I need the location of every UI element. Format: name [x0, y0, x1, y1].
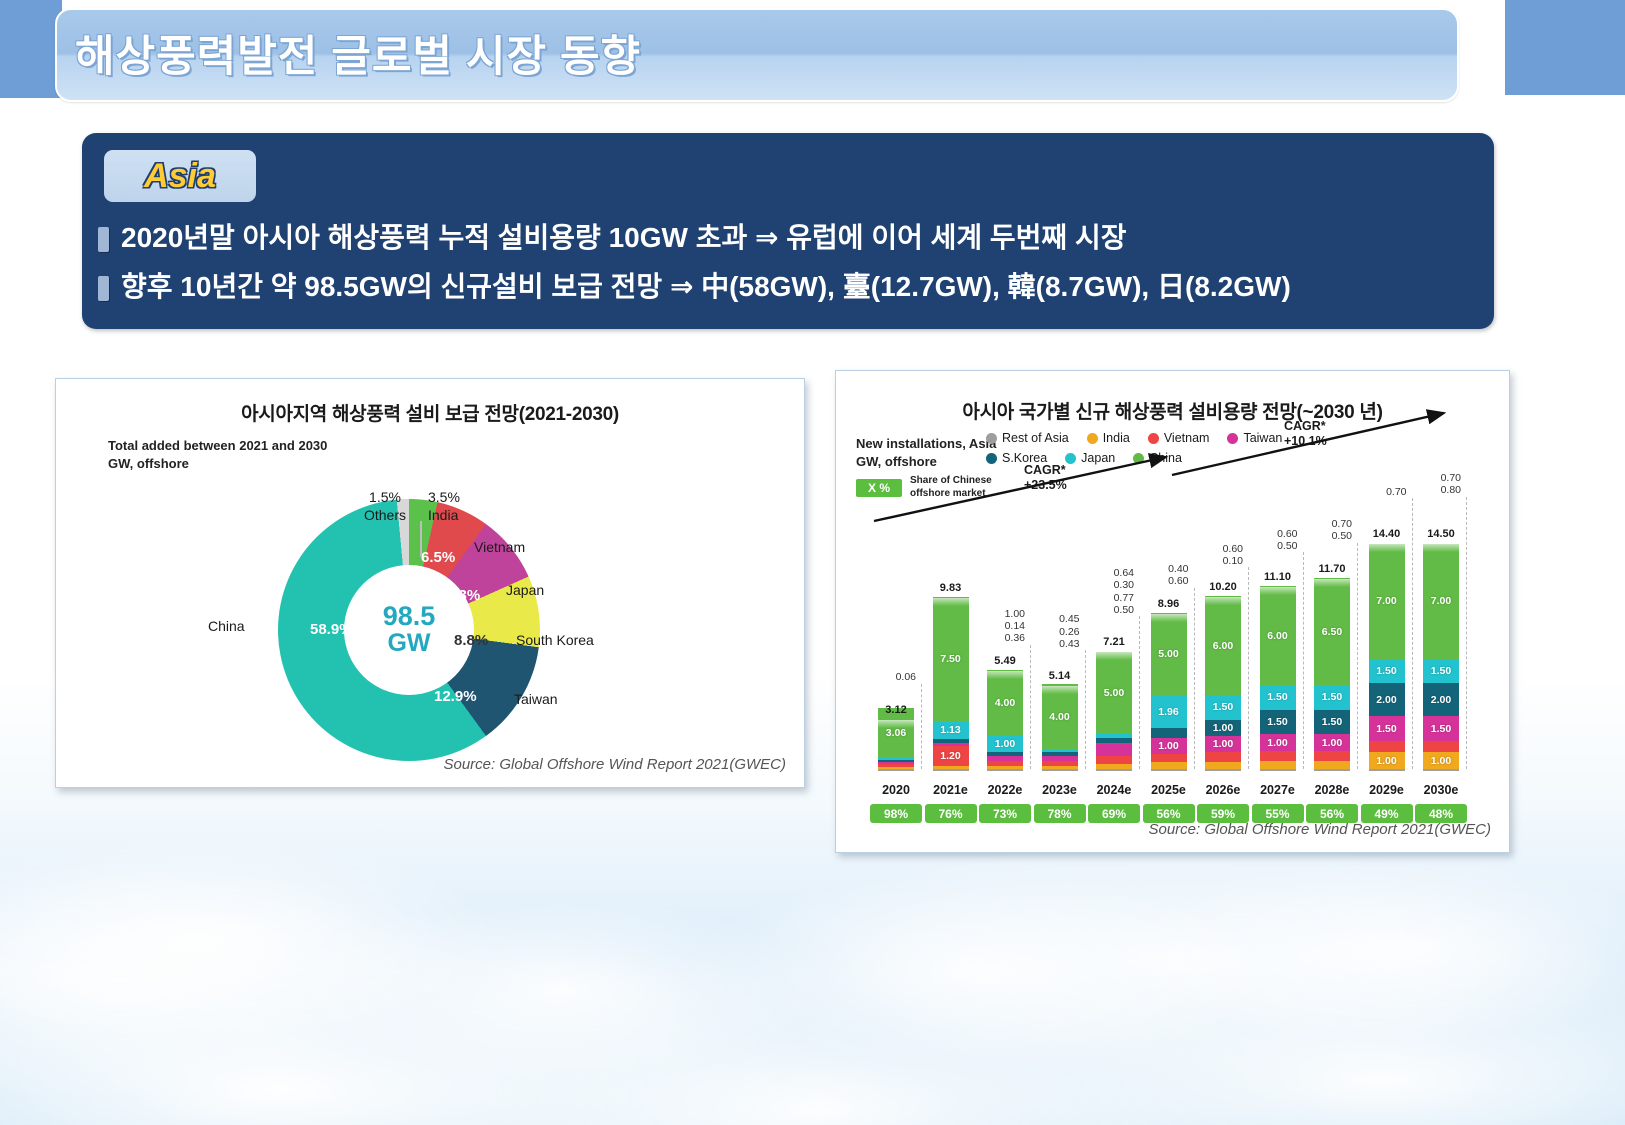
side-note-2029e: 0.70	[1351, 486, 1407, 498]
side-note-value: 0.50	[1296, 530, 1352, 542]
bar-segment-label: 1.00	[1314, 737, 1350, 749]
callout-india-value: 3.5%	[428, 489, 498, 507]
bar-stack: 1.001.502.001.507.00	[1423, 544, 1459, 771]
bar-segment-taiwan: 1.50	[1369, 716, 1405, 741]
bar-segment-india	[1314, 761, 1350, 769]
bar-segment-s-korea	[1096, 738, 1132, 743]
bar-column-2025e[interactable]: 1.001.965.00	[1151, 614, 1187, 771]
bar-total-label-2023e: 5.14	[1030, 670, 1090, 682]
bar-stack: 3.06	[878, 708, 914, 771]
bar-total-label-2021e: 9.83	[921, 582, 981, 594]
bar-segment-china: 6.00	[1205, 596, 1241, 695]
bar-segment-label: 1.96	[1151, 706, 1187, 718]
side-note-dash-line	[1085, 650, 1086, 769]
side-note-value: 0.70	[1351, 486, 1407, 498]
donut-center-unit: GW	[387, 630, 430, 658]
slice-pct-southkorea: 8.8%	[454, 632, 488, 649]
bar-segment-label: 4.00	[987, 697, 1023, 709]
bar-plot-area: 0.063.063.12202098%1.201.137.509.832021e…	[856, 521, 1496, 771]
bar-segment-s-korea	[1042, 752, 1078, 755]
bar-segment-rest-of-asia	[1096, 769, 1132, 771]
callout-others-label: Others	[352, 507, 418, 525]
side-note-value: 0.64	[1078, 567, 1134, 579]
callout-vietnam: Vietnam	[474, 539, 525, 557]
bar-segment-rest-of-asia	[1314, 769, 1350, 771]
bar-stack: 1.001.501.506.50	[1314, 578, 1350, 771]
bar-segment-label: 1.00	[1151, 740, 1187, 752]
bar-segment-label: 1.00	[1205, 738, 1241, 750]
bar-stack: 1.001.502.001.507.00	[1369, 544, 1405, 771]
slice-pct-vietnam: 6.5%	[421, 549, 455, 566]
bar-segment-china: 4.00	[987, 670, 1023, 736]
bar-segment-vietnam: 1.20	[933, 746, 969, 766]
china-share-badge-2021e: 76%	[925, 804, 977, 823]
side-note-value: 0.50	[1242, 540, 1298, 552]
bar-segment-china: 6.00	[1260, 586, 1296, 685]
x-axis-label-2030e: 2030e	[1409, 783, 1473, 797]
bar-segment-china: 7.00	[1423, 544, 1459, 659]
stacked-bar-panel: 아시아 국가별 신규 해상풍력 설비용량 전망(~2030 년) New ins…	[835, 370, 1510, 853]
bar-total-label-2024e: 7.21	[1084, 636, 1144, 648]
bar-segment-s-korea: 2.00	[1369, 683, 1405, 716]
china-share-badge-2024e: 69%	[1088, 804, 1140, 823]
side-note-2023e: 0.450.260.43	[1024, 613, 1080, 650]
bar-segment-label: 1.50	[1369, 723, 1405, 735]
side-note-2028e: 0.700.50	[1296, 518, 1352, 543]
bar-segment-vietnam	[1042, 761, 1078, 766]
bar-segment-japan	[878, 758, 914, 760]
bar-column-2026e[interactable]: 1.001.001.506.00	[1205, 597, 1241, 771]
bar-segment-label: 6.00	[1205, 640, 1241, 652]
legend-dot-icon	[1148, 433, 1159, 444]
bar-segment-label: 1.13	[933, 724, 969, 736]
side-note-value: 0.26	[1024, 626, 1080, 638]
bar-segment-india	[933, 766, 969, 769]
bar-column-2030e[interactable]: 1.001.502.001.507.00	[1423, 544, 1459, 771]
legend-item-india: India	[1087, 431, 1130, 445]
side-note-2025e: 0.400.60	[1133, 563, 1189, 588]
region-chip-asia: Asia	[104, 150, 256, 202]
bar-segment-s-korea	[933, 739, 969, 742]
donut-chart-panel: 아시아지역 해상풍력 설비 보급 전망(2021-2030) Total add…	[55, 378, 805, 788]
bar-total-label-2022e: 5.49	[975, 655, 1035, 667]
bar-segment-taiwan	[1096, 743, 1132, 756]
bar-column-2020[interactable]: 3.06	[878, 720, 914, 771]
china-share-badge-2022e: 73%	[979, 804, 1031, 823]
bar-column-2021e[interactable]: 1.201.137.50	[933, 598, 969, 771]
slice-pct-china: 58.9%	[310, 621, 353, 638]
bar-segment-vietnam	[878, 764, 914, 766]
bar-segment-s-korea	[878, 760, 914, 762]
bullet-item-2: 향후 10년간 약 98.5GW의 신규설비 보급 전망 ⇒ 中(58GW), …	[98, 270, 1291, 303]
bar-segment-label: 1.50	[1314, 691, 1350, 703]
bar-segment-s-korea: 1.50	[1260, 710, 1296, 735]
side-note-value: 0.45	[1024, 613, 1080, 625]
bar-segment-label: 5.00	[1151, 648, 1187, 660]
bar-segment-japan: 1.96	[1151, 695, 1187, 727]
bar-segment-s-korea	[1151, 728, 1187, 738]
bar-segment-japan: 1.00	[987, 736, 1023, 752]
bar-total-label-2025e: 8.96	[1139, 598, 1199, 610]
bar-segment-label: 6.50	[1314, 626, 1350, 638]
bar-segment-label: 1.50	[1205, 701, 1241, 713]
info-box: Asia 2020년말 아시아 해상풍력 누적 설비용량 10GW 초과 ⇒ 유…	[82, 133, 1494, 329]
side-note-value: 0.40	[1133, 563, 1189, 575]
callout-others-value: 1.5%	[352, 489, 418, 507]
bar-segment-label: 1.50	[1369, 665, 1405, 677]
bar-segment-label: 1.00	[1205, 722, 1241, 734]
bar-segment-rest-of-asia	[1151, 769, 1187, 771]
bar-total-label-2030e: 14.50	[1411, 528, 1471, 540]
bar-total-label-2026e: 10.20	[1193, 581, 1253, 593]
bar-segment-taiwan	[1042, 756, 1078, 761]
bar-segment-vietnam	[987, 761, 1023, 766]
bar-stack: 1.001.001.506.00	[1205, 596, 1241, 771]
callout-india-label: India	[428, 507, 498, 525]
bar-segment-taiwan: 1.00	[1205, 736, 1241, 752]
bar-segment-taiwan: 1.00	[1260, 734, 1296, 750]
bar-segment-vietnam	[1314, 751, 1350, 761]
region-chip-label: Asia	[144, 157, 216, 196]
bullet-item-1: 2020년말 아시아 해상풍력 누적 설비용량 10GW 초과 ⇒ 유럽에 이어…	[98, 221, 1127, 254]
callout-others: 1.5% Others	[352, 489, 418, 524]
bar-column-2029e[interactable]: 1.001.502.001.507.00	[1369, 544, 1405, 771]
side-note-value: 0.60	[1242, 528, 1298, 540]
bar-segment-rest-of-asia	[933, 769, 969, 771]
bar-segment-japan: 1.50	[1314, 685, 1350, 710]
bar-total-label-2027e: 11.10	[1248, 571, 1308, 583]
bar-segment-china: 5.00	[1151, 613, 1187, 695]
side-note-value: 0.30	[1078, 579, 1134, 591]
bullet-text-2: 향후 10년간 약 98.5GW의 신규설비 보급 전망 ⇒ 中(58GW), …	[121, 270, 1291, 303]
title-left-accent	[0, 0, 62, 98]
bar-segment-label: 1.50	[1260, 716, 1296, 728]
side-note-value: 0.70	[1405, 472, 1461, 484]
bar-segment-japan: 1.13	[933, 721, 969, 740]
side-note-2020: 0.06	[860, 671, 916, 683]
bar-segment-taiwan: 1.00	[1314, 734, 1350, 750]
bar-segment-india	[878, 767, 914, 769]
donut-subtitle: Total added between 2021 and 2030 GW, of…	[108, 437, 327, 472]
side-note-value: 0.10	[1187, 555, 1243, 567]
bar-stack: 5.00	[1096, 652, 1132, 771]
bar-segment-label: 3.06	[878, 727, 914, 739]
bar-segment-label: 1.50	[1260, 691, 1296, 703]
bar-stack: 1.001.965.00	[1151, 613, 1187, 771]
bar-segment-s-korea: 2.00	[1423, 683, 1459, 716]
callout-southkorea: South Korea	[516, 632, 594, 650]
callout-india: 3.5% India	[428, 489, 498, 524]
bar-segment-china: 6.50	[1314, 578, 1350, 685]
slice-pct-japan: 8.3%	[446, 587, 480, 604]
bar-segment-taiwan: 1.00	[1151, 738, 1187, 754]
bar-stack: 1.201.137.50	[933, 597, 969, 771]
legend-label: India	[1103, 431, 1130, 445]
bar-segment-label: 2.00	[1423, 694, 1459, 706]
bar-segment-label: 7.00	[1369, 595, 1405, 607]
side-note-dash-line	[921, 684, 922, 769]
side-note-value: 0.80	[1405, 484, 1461, 496]
bar-segment-label: 1.50	[1423, 723, 1459, 735]
bar-segment-label: 7.50	[933, 653, 969, 665]
side-note-2030e: 0.700.80	[1405, 472, 1461, 497]
bar-column-2024e[interactable]: 5.00	[1096, 652, 1132, 771]
bar-segment-vietnam	[1096, 756, 1132, 764]
bar-segment-vietnam	[1423, 741, 1459, 753]
side-note-dash-line	[1248, 567, 1249, 769]
side-note-2024e: 0.640.300.770.50	[1078, 567, 1134, 617]
bar-segment-rest-of-asia	[1205, 769, 1241, 771]
trend-arrow-1	[866, 449, 1186, 529]
bar-segment-japan	[1096, 734, 1132, 738]
bar-segment-s-korea: 1.00	[1205, 720, 1241, 736]
bar-segment-taiwan: 1.50	[1423, 716, 1459, 741]
side-note-value: 0.70	[1296, 518, 1352, 530]
bar-stack: 1.004.00	[987, 670, 1023, 771]
bar-stack: 4.00	[1042, 684, 1078, 771]
bullet-marker-icon	[98, 276, 109, 301]
bar-segment-japan: 1.50	[1423, 659, 1459, 684]
bar-segment-label: 7.00	[1423, 595, 1459, 607]
bar-segment-rest-of-asia	[987, 769, 1023, 771]
bar-segment-label: 1.00	[1369, 755, 1405, 767]
china-share-badge-2023e: 78%	[1034, 804, 1086, 823]
donut-subtitle-line1: Total added between 2021 and 2030	[108, 437, 327, 455]
bar-segment-japan: 1.50	[1260, 685, 1296, 710]
bar-segment-taiwan	[878, 762, 914, 764]
bar-column-2028e[interactable]: 1.001.501.506.50	[1314, 579, 1350, 771]
china-share-badge-2020: 98%	[870, 804, 922, 823]
bar-segment-s-korea	[987, 752, 1023, 755]
side-note-value: 0.14	[969, 620, 1025, 632]
side-note-value: 1.00	[969, 608, 1025, 620]
bar-column-2023e[interactable]: 4.00	[1042, 686, 1078, 771]
bar-source-note: Source: Global Offshore Wind Report 2021…	[1148, 821, 1491, 838]
bar-segment-rest-of-asia	[878, 769, 914, 771]
page-title: 해상풍력발전 글로벌 시장 동향	[75, 22, 1415, 84]
side-note-2022e: 1.000.140.36	[969, 608, 1025, 645]
legend-dot-icon	[986, 433, 997, 444]
legend-dot-icon	[1087, 433, 1098, 444]
bar-segment-japan: 1.50	[1369, 659, 1405, 684]
bar-segment-india	[1096, 764, 1132, 769]
bar-segment-japan	[1042, 750, 1078, 752]
bar-segment-label: 1.50	[1314, 716, 1350, 728]
bar-segment-vietnam	[1205, 752, 1241, 762]
donut-source-note: Source: Global Offshore Wind Report 2021…	[443, 756, 786, 773]
bar-segment-taiwan	[933, 743, 969, 746]
bar-segment-s-korea: 1.50	[1314, 710, 1350, 735]
bar-segment-taiwan	[987, 756, 1023, 761]
callout-japan: Japan	[506, 582, 544, 600]
legend-item-rest-of-asia: Rest of Asia	[986, 431, 1069, 445]
bar-segment-india	[1260, 761, 1296, 769]
bar-segment-rest-of-asia	[1260, 769, 1296, 771]
side-note-dash-line	[1357, 543, 1358, 769]
bar-segment-label: 1.50	[1423, 665, 1459, 677]
bar-segment-rest-of-asia	[1423, 769, 1459, 771]
donut-center: 98.5 GW	[344, 565, 474, 695]
side-note-2027e: 0.600.50	[1242, 528, 1298, 553]
title-bar: 해상풍력발전 글로벌 시장 동향	[0, 0, 1625, 105]
side-note-value: 0.06	[860, 671, 916, 683]
bullet-marker-icon	[98, 227, 109, 252]
callout-china: China	[208, 618, 245, 636]
bar-segment-india	[1151, 762, 1187, 769]
bar-segment-vietnam	[1369, 741, 1405, 753]
bar-total-label-2028e: 11.70	[1302, 563, 1362, 575]
side-note-value: 0.43	[1024, 638, 1080, 650]
side-note-dash-line	[1303, 552, 1304, 769]
bar-segment-china: 7.50	[933, 597, 969, 720]
bar-column-2022e[interactable]: 1.004.00	[987, 671, 1023, 771]
bar-segment-japan: 1.50	[1205, 695, 1241, 720]
bar-total-label-2029e: 14.40	[1357, 528, 1417, 540]
callout-taiwan: Taiwan	[514, 691, 558, 709]
bar-segment-india	[987, 766, 1023, 769]
bar-segment-rest-of-asia	[1042, 769, 1078, 771]
bar-segment-india	[1205, 762, 1241, 769]
bar-segment-china: 7.00	[1369, 544, 1405, 659]
bar-segment-label: 5.00	[1096, 687, 1132, 699]
side-note-dash-line	[1194, 588, 1195, 769]
side-note-2026e: 0.600.10	[1187, 543, 1243, 568]
bar-column-2027e[interactable]: 1.001.501.506.00	[1260, 587, 1296, 771]
leader-line-others	[420, 521, 422, 557]
bar-segment-label: 2.00	[1369, 694, 1405, 706]
bar-segment-china: 5.00	[1096, 652, 1132, 734]
bar-segment-india: 1.00	[1423, 752, 1459, 768]
bar-segment-vietnam	[1151, 754, 1187, 762]
bar-segment-label: 1.00	[1260, 737, 1296, 749]
bullet-text-1: 2020년말 아시아 해상풍력 누적 설비용량 10GW 초과 ⇒ 유럽에 이어…	[121, 221, 1127, 254]
bar-segment-label: 1.20	[933, 750, 969, 762]
title-right-accent	[1505, 0, 1625, 95]
bar-total-label-2020: 3.12	[866, 704, 926, 716]
side-note-value: 0.60	[1133, 575, 1189, 587]
side-note-value: 0.77	[1078, 592, 1134, 604]
side-note-value: 0.60	[1187, 543, 1243, 555]
bar-segment-label: 1.00	[1423, 755, 1459, 767]
bar-segment-india: 1.00	[1369, 752, 1405, 768]
donut-subtitle-line2: GW, offshore	[108, 455, 327, 473]
bar-segment-label: 1.00	[987, 738, 1023, 750]
bar-stack: 1.001.501.506.00	[1260, 586, 1296, 771]
bar-segment-vietnam	[1260, 751, 1296, 761]
slice-pct-taiwan: 12.9%	[434, 688, 477, 705]
bar-segment-china: 4.00	[1042, 684, 1078, 750]
donut-chart-title: 아시아지역 해상풍력 설비 보급 전망(2021-2030)	[56, 399, 804, 426]
legend-label: Rest of Asia	[1002, 431, 1069, 445]
side-note-value: 0.50	[1078, 604, 1134, 616]
bar-segment-india	[1042, 766, 1078, 769]
bar-segment-label: 6.00	[1260, 630, 1296, 642]
side-note-value: 0.36	[969, 632, 1025, 644]
bar-segment-label: 4.00	[1042, 711, 1078, 723]
donut-center-value: 98.5	[383, 603, 436, 630]
bar-segment-rest-of-asia	[1369, 769, 1405, 771]
